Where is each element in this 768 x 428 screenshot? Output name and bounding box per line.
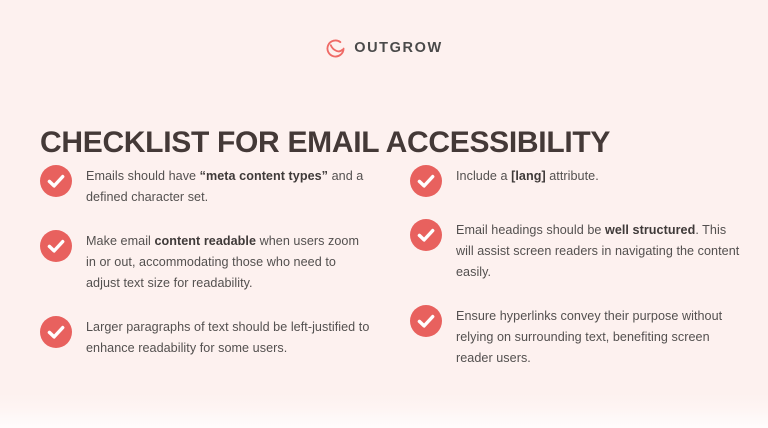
checklist-poster: OUTGROW CHECKLIST FOR EMAIL ACCESSIBILIT… [0, 0, 768, 428]
checklist-item-text: Larger paragraphs of text should be left… [86, 315, 370, 359]
checklist-item: Larger paragraphs of text should be left… [40, 315, 370, 359]
check-circle-icon [40, 164, 72, 197]
bottom-fade-overlay [0, 394, 768, 428]
check-circle-icon [410, 164, 442, 197]
checklist-columns: Emails should have “meta content types” … [40, 164, 740, 369]
checklist-item: Email headings should be well structured… [410, 218, 740, 283]
check-circle-icon [410, 218, 442, 251]
check-circle-icon [40, 229, 72, 262]
page-title: CHECKLIST FOR EMAIL ACCESSIBILITY [40, 126, 610, 159]
brand-logo: OUTGROW [0, 36, 768, 60]
checklist-item-text: Include a [lang] attribute. [456, 164, 599, 187]
brand-name: OUTGROW [354, 41, 443, 56]
checklist-item-text: Ensure hyperlinks convey their purpose w… [456, 304, 740, 369]
checklist-item: Emails should have “meta content types” … [40, 164, 370, 208]
checklist-item: Include a [lang] attribute. [410, 164, 740, 197]
outgrow-circle-icon [325, 38, 346, 59]
checklist-item-text: Email headings should be well structured… [456, 218, 740, 283]
check-circle-icon [410, 304, 442, 337]
check-circle-icon [40, 315, 72, 348]
checklist-column-left: Emails should have “meta content types” … [40, 164, 370, 369]
checklist-column-right: Include a [lang] attribute.Email heading… [410, 164, 740, 369]
checklist-item: Ensure hyperlinks convey their purpose w… [410, 304, 740, 369]
checklist-item: Make email content readable when users z… [40, 229, 370, 294]
checklist-item-text: Make email content readable when users z… [86, 229, 370, 294]
checklist-item-text: Emails should have “meta content types” … [86, 164, 370, 208]
